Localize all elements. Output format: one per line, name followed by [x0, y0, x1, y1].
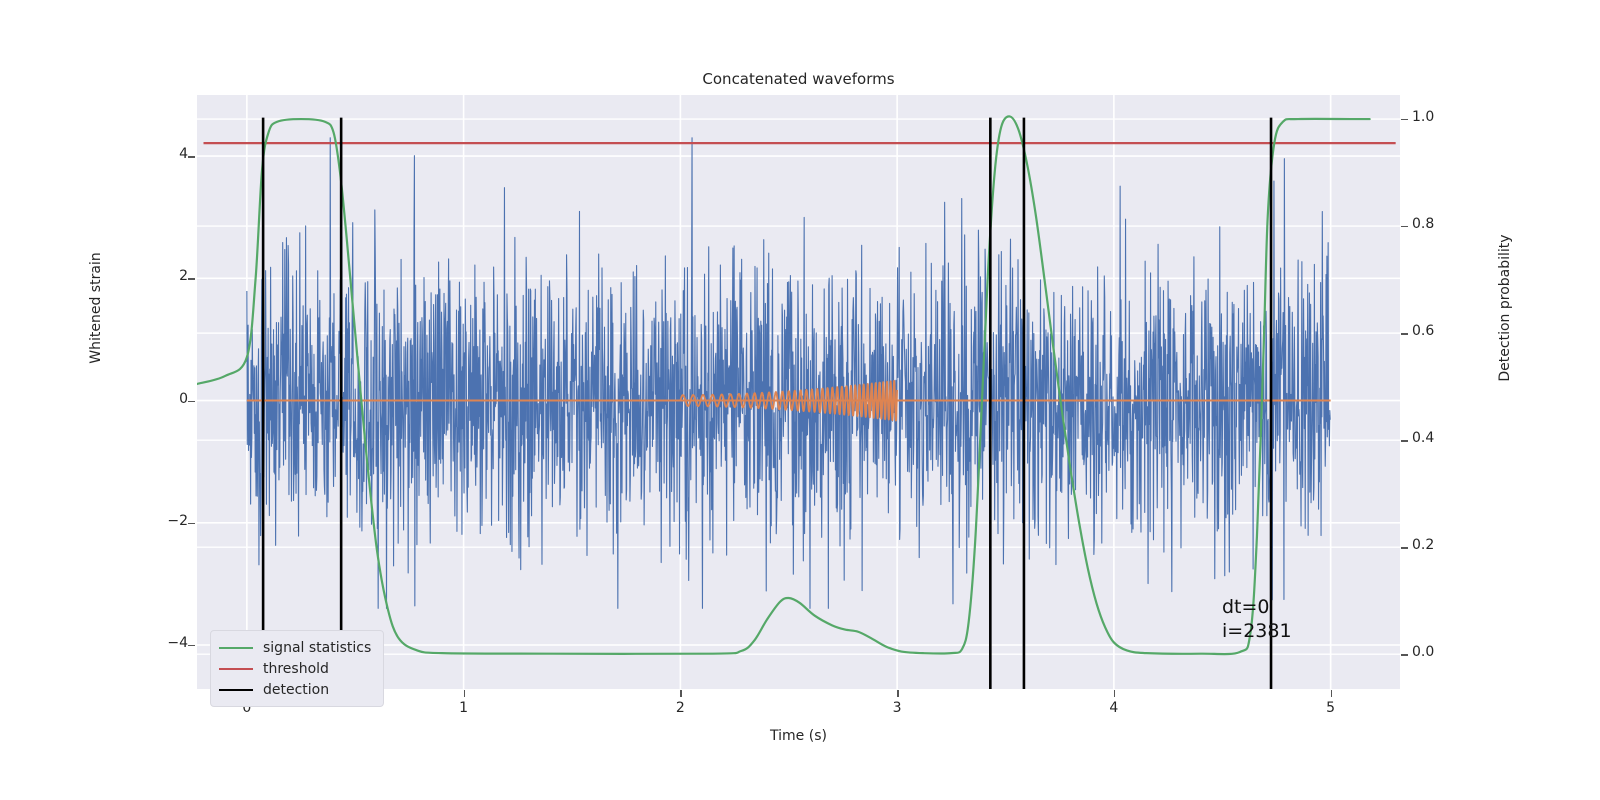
x-axis-tick-label: 5 [1301, 700, 1361, 716]
x-axis-tick-mark [1331, 690, 1332, 697]
legend-swatch-detection [219, 689, 253, 691]
x-axis-tick-mark [1114, 690, 1115, 697]
y-axis-left-tick-label: −2 [167, 513, 188, 529]
y-axis-left-tick-label: 4 [179, 146, 188, 162]
y-axis-right-tick-mark [1401, 440, 1408, 441]
legend-item[interactable]: detection [219, 679, 371, 700]
x-axis-tick-label: 1 [434, 700, 494, 716]
plot-area [197, 95, 1400, 689]
y-axis-right-tick-mark [1401, 333, 1408, 334]
y-axis-left-tick-mark [188, 523, 195, 524]
y-axis-left-tick-mark [188, 401, 195, 402]
y-axis-right-tick-label: 0.4 [1412, 430, 1434, 446]
y-axis-right-tick-mark [1401, 226, 1408, 227]
legend: signal statisticsthresholddetection [210, 630, 384, 707]
annotation-dt: dt=0 [1222, 596, 1292, 620]
x-axis-label: Time (s) [197, 728, 1400, 744]
legend-swatch-signal-statistics [219, 647, 253, 649]
plot-canvas [197, 95, 1400, 689]
legend-label: signal statistics [263, 640, 371, 656]
y-axis-right-tick-label: 0.6 [1412, 323, 1434, 339]
noise-series [247, 138, 1330, 609]
x-axis-tick-mark [680, 690, 681, 697]
figure-canvas: Concatenated waveforms Whitened strain D… [0, 0, 1600, 800]
legend-item[interactable]: signal statistics [219, 637, 371, 658]
annotation-index: i=2381 [1222, 620, 1292, 644]
y-axis-right-tick-mark [1401, 547, 1408, 548]
y-axis-right-tick-mark [1401, 654, 1408, 655]
x-axis-tick-label: 3 [867, 700, 927, 716]
y-axis-right-tick-label: 0.0 [1412, 644, 1434, 660]
x-axis-tick-label: 4 [1084, 700, 1144, 716]
y-axis-right-tick-label: 0.2 [1412, 537, 1434, 553]
legend-item[interactable]: threshold [219, 658, 371, 679]
y-axis-left-tick-mark [188, 645, 195, 646]
y-axis-left-tick-label: 2 [179, 268, 188, 284]
y-axis-left-tick-label: −4 [167, 635, 188, 651]
y-axis-left-tick-mark [188, 278, 195, 279]
x-axis-tick-label: 2 [650, 700, 710, 716]
y-axis-left-tick-label: 0 [179, 391, 188, 407]
y-axis-right-tick-mark [1401, 119, 1408, 120]
y-axis-left-tick-mark [188, 156, 195, 157]
legend-label: threshold [263, 661, 329, 677]
legend-swatch-threshold [219, 668, 253, 670]
y-axis-right-label: Detection probability [1497, 148, 1513, 468]
x-axis-tick-mark [464, 690, 465, 697]
plot-title: Concatenated waveforms [197, 70, 1400, 88]
legend-label: detection [263, 682, 329, 698]
detection-annotation: dt=0 i=2381 [1222, 596, 1292, 644]
y-axis-right-tick-label: 1.0 [1412, 109, 1434, 125]
x-axis-tick-mark [897, 690, 898, 697]
y-axis-right-tick-label: 0.8 [1412, 216, 1434, 232]
y-axis-left-label: Whitened strain [88, 178, 104, 438]
